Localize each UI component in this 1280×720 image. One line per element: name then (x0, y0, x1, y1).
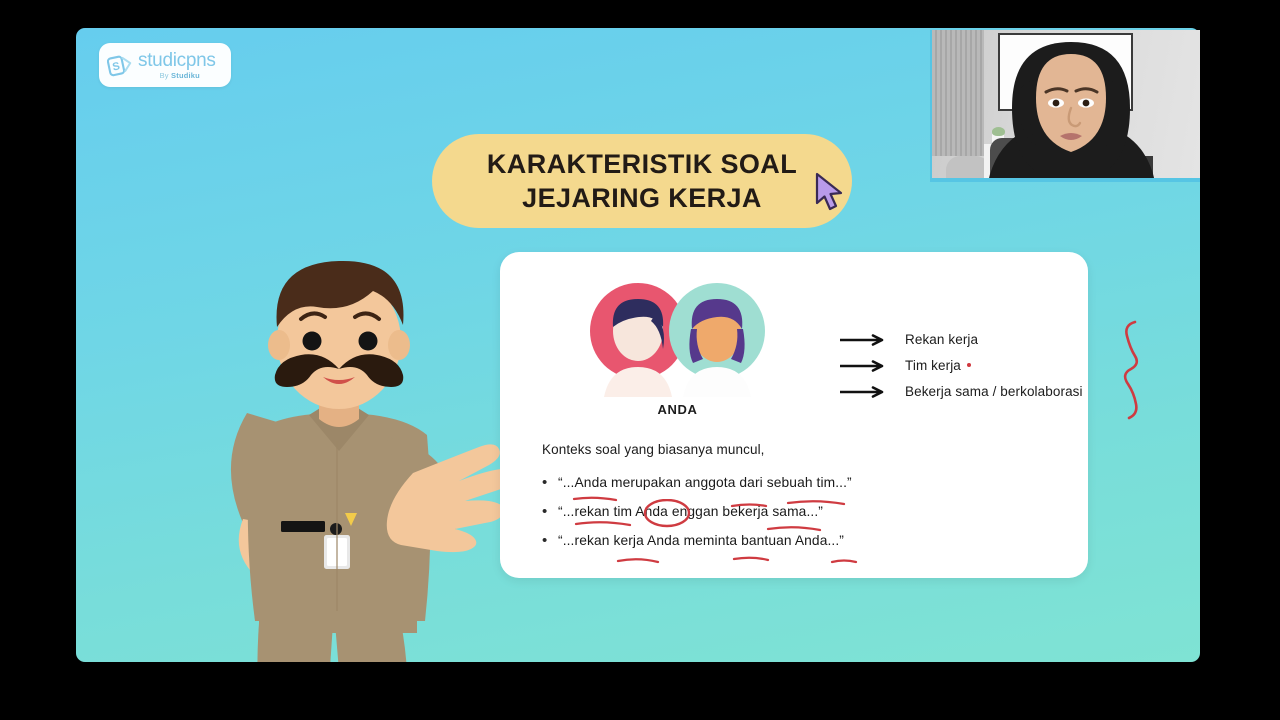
list-item: • “...Anda merupakan anggota dari sebuah… (542, 474, 1062, 503)
context-heading: Konteks soal yang biasanya muncul, (542, 442, 765, 457)
person-avatar-icon-right (669, 283, 765, 397)
presenter-video[interactable] (930, 30, 1200, 182)
avatar-group (590, 279, 765, 397)
arrow-row: Rekan kerja (840, 326, 1080, 352)
svg-text:S: S (111, 60, 121, 73)
mouse-pointer-icon (812, 171, 850, 213)
bullet-marker: • (542, 474, 558, 493)
logo-wordmark: studicpns By Studiku (138, 50, 216, 80)
bullet-list: • “...Anda merupakan anggota dari sebuah… (542, 474, 1062, 561)
civil-servant-illustration (131, 223, 551, 662)
presenter-portrait (984, 40, 1159, 182)
arrow-row: Tim kerja (840, 352, 1080, 378)
bullet-text: “...Anda merupakan anggota dari sebuah t… (558, 474, 852, 491)
screen: S studicpns By Studiku KARAKTERISTIK SOA… (0, 0, 1280, 720)
list-item: • “...rekan kerja Anda meminta bantuan A… (542, 532, 1062, 561)
content-card: ANDA Rekan kerja Tim kerja (500, 252, 1088, 578)
red-annotation-underline (560, 549, 920, 569)
red-dot-annotation (967, 363, 971, 367)
bullet-text: “...rekan kerja Anda meminta bantuan And… (558, 532, 844, 549)
arrow-row: Bekerja sama / berkolaborasi (840, 378, 1080, 404)
bullet-marker: • (542, 503, 558, 522)
page-title-line2: JEJARING KERJA (522, 182, 762, 215)
hand-drawn-brace-icon (1115, 320, 1149, 420)
arrow-row-list: Rekan kerja Tim kerja Bekerja sama / ber… (840, 326, 1080, 404)
right-arrow-icon (840, 385, 888, 397)
window-blinds (932, 30, 984, 156)
logo-name: studicpns (138, 51, 216, 70)
right-arrow-icon (840, 359, 888, 371)
bullet-text: “...rekan tim Anda enggan bekerja sama..… (558, 503, 823, 520)
right-arrow-icon (840, 333, 888, 345)
page-title-line1: KARAKTERISTIK SOAL (487, 148, 797, 181)
arrow-row-label: Bekerja sama / berkolaborasi (905, 384, 1083, 399)
arrow-row-label: Tim kerja (905, 358, 961, 373)
video-bottom-border (930, 178, 1200, 182)
bullet-marker: • (542, 532, 558, 551)
arrow-row-label: Rekan kerja (905, 332, 978, 347)
slide-title-pill: KARAKTERISTIK SOAL JEJARING KERJA (432, 134, 852, 228)
studicpns-logo: S studicpns By Studiku (99, 43, 231, 87)
avatar-caption: ANDA (590, 402, 765, 417)
studi-tag-icon: S (107, 52, 134, 79)
list-item: • “...rekan tim Anda enggan bekerja sama… (542, 503, 1062, 532)
logo-byline: By Studiku (138, 72, 216, 80)
